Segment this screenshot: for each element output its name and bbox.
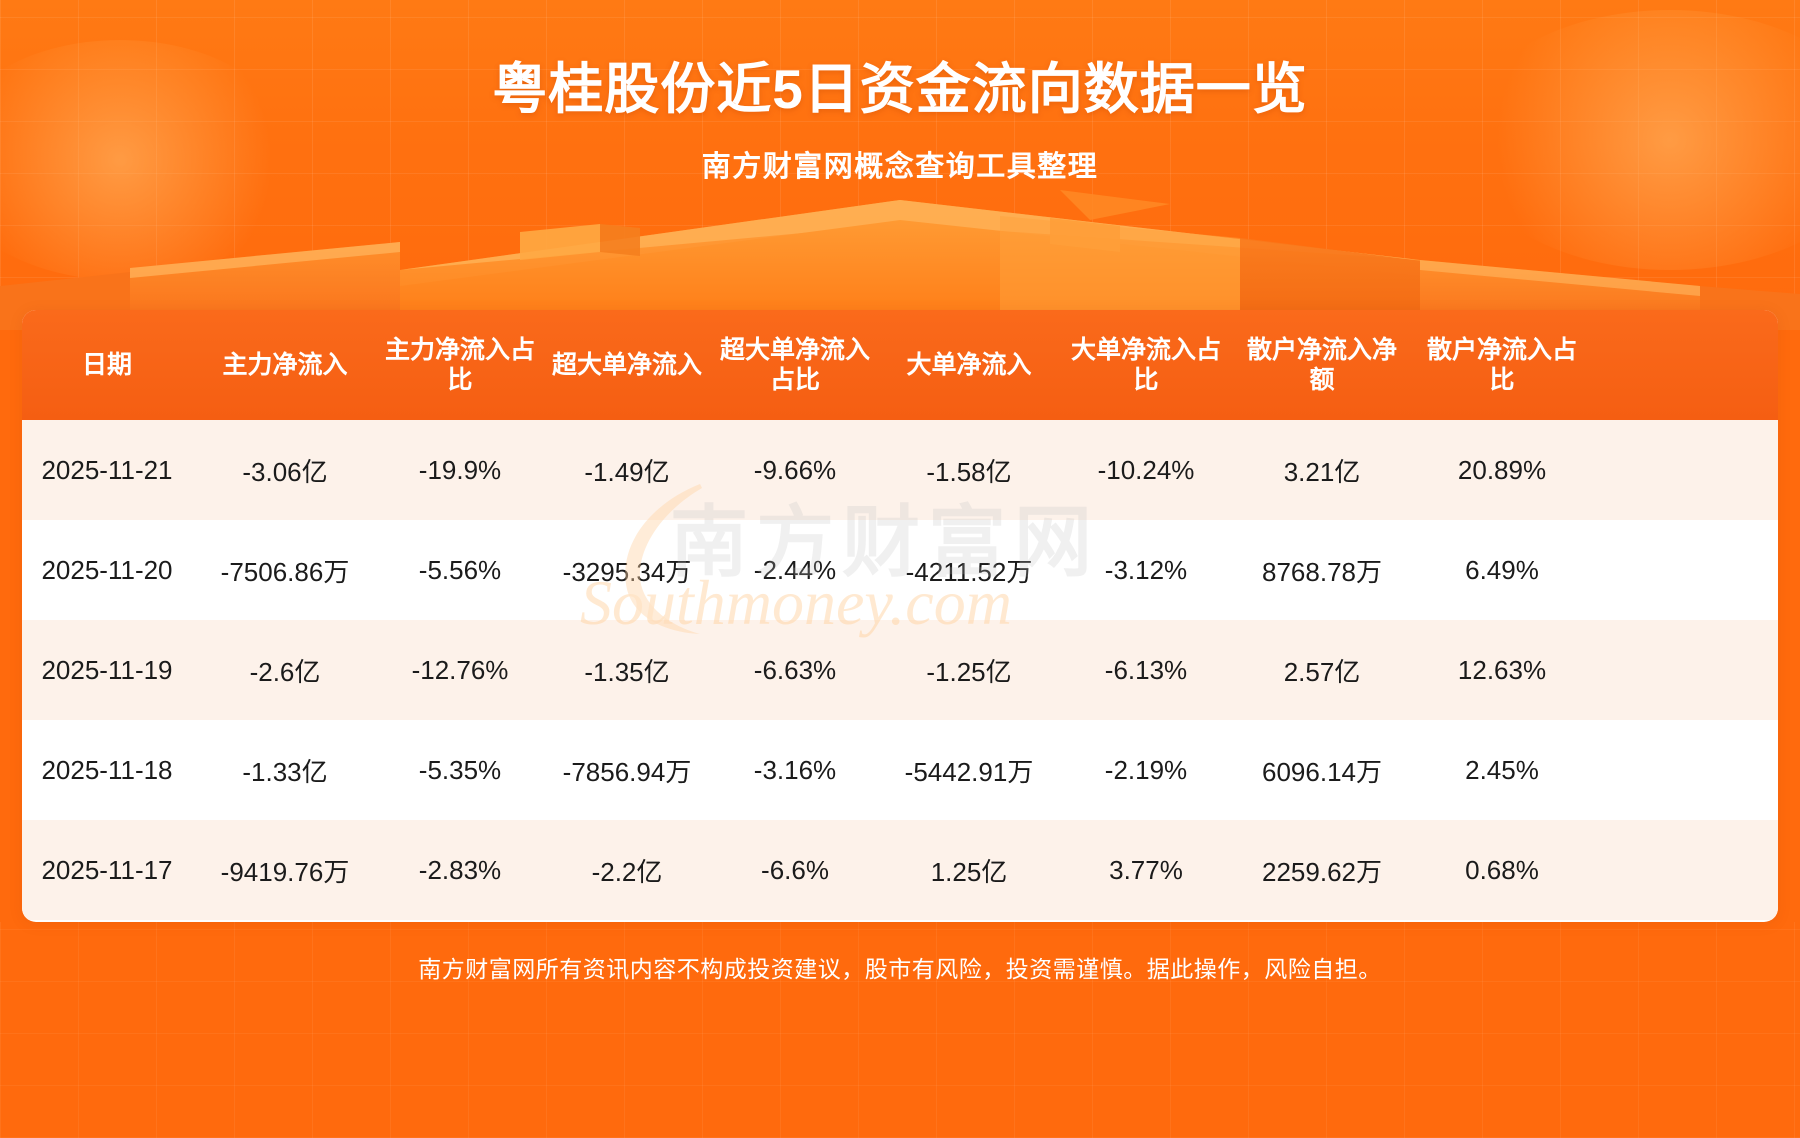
cell-lg-pct: 3.77% (1060, 820, 1232, 920)
cell-retail-net: 2.57亿 (1232, 620, 1412, 720)
column-header-retail-net: 散户净流入净额 (1232, 310, 1412, 420)
cell-lg-net: -1.25亿 (878, 620, 1060, 720)
cell-date: 2025-11-21 (22, 420, 192, 520)
cell-lg-pct: -10.24% (1060, 420, 1232, 520)
cell-main-net: -1.33亿 (192, 720, 378, 820)
cell-main-net: -9419.76万 (192, 820, 378, 920)
cell-main-pct: -5.35% (378, 720, 542, 820)
cell-date: 2025-11-18 (22, 720, 192, 820)
table-row: 2025-11-17 -9419.76万 -2.83% -2.2亿 -6.6% … (22, 820, 1778, 920)
disclaimer-text: 南方财富网所有资讯内容不构成投资建议，股市有风险，投资需谨慎。据此操作，风险自担… (0, 950, 1800, 984)
table-row: 2025-11-19 -2.6亿 -12.76% -1.35亿 -6.63% -… (22, 620, 1778, 720)
cell-retail-pct: 0.68% (1412, 820, 1592, 920)
cell-lg-net: -5442.91万 (878, 720, 1060, 820)
cell-main-pct: -12.76% (378, 620, 542, 720)
cell-xl-net: -1.49亿 (542, 420, 712, 520)
table-row: 2025-11-20 -7506.86万 -5.56% -3295.34万 -2… (22, 520, 1778, 620)
cell-main-net: -3.06亿 (192, 420, 378, 520)
cell-main-pct: -2.83% (378, 820, 542, 920)
cell-xl-pct: -6.63% (712, 620, 878, 720)
table-row: 2025-11-21 -3.06亿 -19.9% -1.49亿 -9.66% -… (22, 420, 1778, 520)
cell-main-net: -2.6亿 (192, 620, 378, 720)
cell-lg-net: -1.58亿 (878, 420, 1060, 520)
column-header-lg-pct: 大单净流入占比 (1060, 310, 1232, 420)
cell-lg-pct: -6.13% (1060, 620, 1232, 720)
cell-date: 2025-11-17 (22, 820, 192, 920)
cell-xl-net: -7856.94万 (542, 720, 712, 820)
column-header-main-net: 主力净流入 (192, 310, 378, 420)
column-header-xl-net: 超大单净流入 (542, 310, 712, 420)
page-title: 粤桂股份近5日资金流向数据一览 (0, 44, 1800, 124)
page-subtitle: 南方财富网概念查询工具整理 (0, 143, 1800, 185)
cell-retail-pct: 6.49% (1412, 520, 1592, 620)
table-row: 2025-11-18 -1.33亿 -5.35% -7856.94万 -3.16… (22, 720, 1778, 820)
cell-xl-net: -1.35亿 (542, 620, 712, 720)
cell-date: 2025-11-19 (22, 620, 192, 720)
cell-lg-pct: -3.12% (1060, 520, 1232, 620)
cell-xl-net: -2.2亿 (542, 820, 712, 920)
column-header-date: 日期 (22, 310, 192, 420)
column-header-main-pct: 主力净流入占比 (378, 310, 542, 420)
cell-main-net: -7506.86万 (192, 520, 378, 620)
fund-flow-table-card: 日期 主力净流入 主力净流入占比 超大单净流入 超大单净流入占比 大单净流入 大… (22, 310, 1778, 922)
cell-retail-net: 3.21亿 (1232, 420, 1412, 520)
cell-lg-pct: -2.19% (1060, 720, 1232, 820)
footer: 南方财富网所有资讯内容不构成投资建议，股市有风险，投资需谨慎。据此操作，风险自担… (0, 922, 1800, 1138)
cell-xl-pct: -3.16% (712, 720, 878, 820)
cell-retail-pct: 12.63% (1412, 620, 1592, 720)
cell-xl-net: -3295.34万 (542, 520, 712, 620)
cell-lg-net: -4211.52万 (878, 520, 1060, 620)
cell-retail-net: 2259.62万 (1232, 820, 1412, 920)
cell-main-pct: -19.9% (378, 420, 542, 520)
podium-illustration (0, 190, 1800, 330)
cell-xl-pct: -9.66% (712, 420, 878, 520)
column-header-lg-net: 大单净流入 (878, 310, 1060, 420)
banner: 粤桂股份近5日资金流向数据一览 南方财富网概念查询工具整理 (0, 0, 1800, 330)
cell-lg-net: 1.25亿 (878, 820, 1060, 920)
column-header-xl-pct: 超大单净流入占比 (712, 310, 878, 420)
column-header-retail-pct: 散户净流入占比 (1412, 310, 1592, 420)
cell-date: 2025-11-20 (22, 520, 192, 620)
cell-xl-pct: -6.6% (712, 820, 878, 920)
cell-main-pct: -5.56% (378, 520, 542, 620)
table-header-row: 日期 主力净流入 主力净流入占比 超大单净流入 超大单净流入占比 大单净流入 大… (22, 310, 1778, 420)
cell-xl-pct: -2.44% (712, 520, 878, 620)
cell-retail-net: 8768.78万 (1232, 520, 1412, 620)
cell-retail-net: 6096.14万 (1232, 720, 1412, 820)
cell-retail-pct: 20.89% (1412, 420, 1592, 520)
cell-retail-pct: 2.45% (1412, 720, 1592, 820)
